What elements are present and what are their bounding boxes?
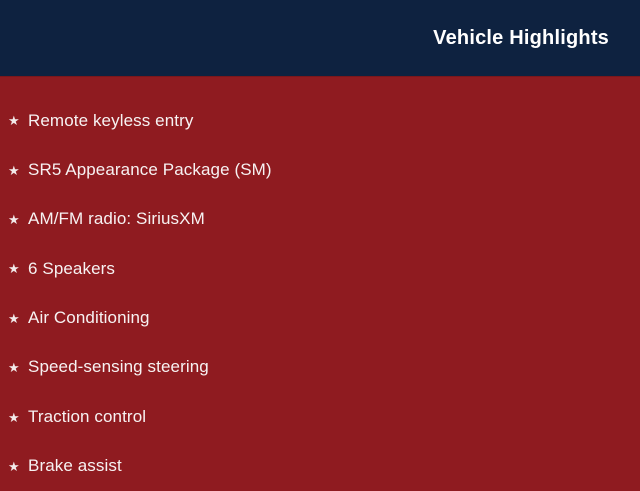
list-item: ★ Remote keyless entry: [0, 96, 640, 145]
list-item-label: SR5 Appearance Package (SM): [28, 160, 272, 180]
list-item: ★ SR5 Appearance Package (SM): [0, 145, 640, 194]
slide-body: ★ Remote keyless entry ★ SR5 Appearance …: [0, 76, 640, 491]
star-icon: ★: [8, 114, 28, 127]
list-item-label: AM/FM radio: SiriusXM: [28, 209, 205, 229]
star-icon: ★: [8, 460, 28, 473]
star-icon: ★: [8, 361, 28, 374]
list-item-label: Air Conditioning: [28, 308, 150, 328]
vehicle-highlights-list: ★ Remote keyless entry ★ SR5 Appearance …: [0, 96, 640, 491]
list-item-label: Remote keyless entry: [28, 111, 193, 131]
star-icon: ★: [8, 312, 28, 325]
list-item: ★ 6 Speakers: [0, 244, 640, 293]
list-item-label: Traction control: [28, 407, 146, 427]
list-item: ★ Traction control: [0, 392, 640, 441]
header-divider: [0, 76, 640, 77]
list-item-label: Brake assist: [28, 456, 122, 476]
star-icon: ★: [8, 213, 28, 226]
list-item: ★ Brake assist: [0, 442, 640, 491]
list-item: ★ AM/FM radio: SiriusXM: [0, 195, 640, 244]
page-title: Vehicle Highlights: [433, 28, 609, 48]
star-icon: ★: [8, 411, 28, 424]
list-item: ★ Air Conditioning: [0, 294, 640, 343]
list-item: ★ Speed-sensing steering: [0, 343, 640, 392]
vehicle-highlights-slide: Vehicle Highlights ★ Remote keyless entr…: [0, 0, 640, 480]
star-icon: ★: [8, 164, 28, 177]
list-item-label: 6 Speakers: [28, 259, 115, 279]
star-icon: ★: [8, 262, 28, 275]
slide-header: Vehicle Highlights: [0, 0, 640, 76]
list-item-label: Speed-sensing steering: [28, 357, 209, 377]
